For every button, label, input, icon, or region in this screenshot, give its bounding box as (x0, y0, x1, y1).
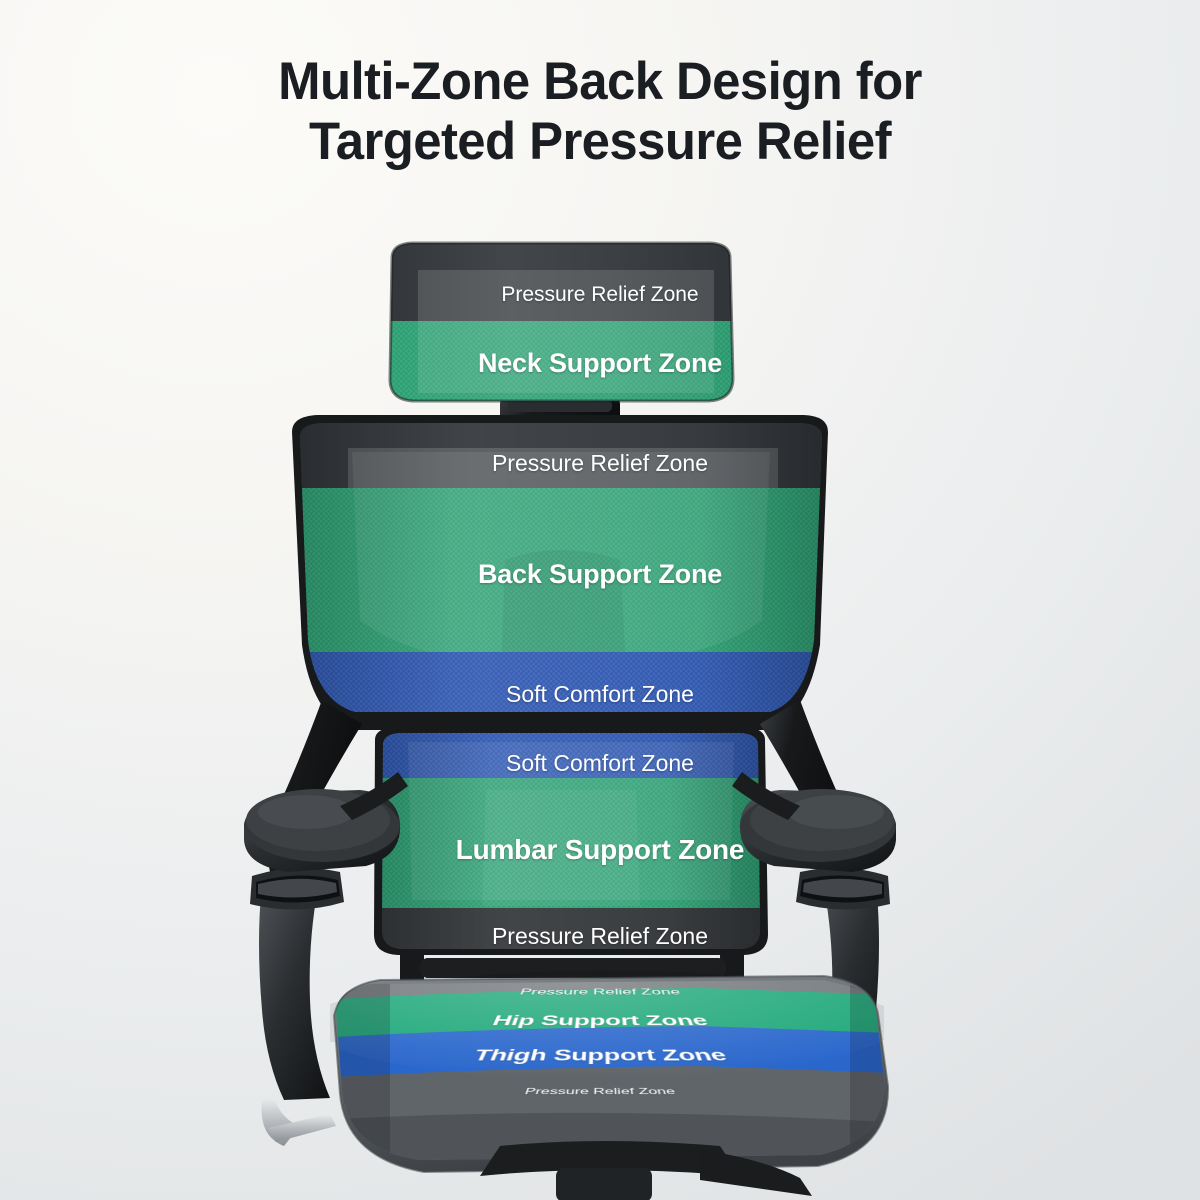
backrest (290, 420, 835, 722)
office-chair-illustration (0, 0, 1200, 1200)
headrest (380, 243, 750, 413)
lumbar-panel (370, 727, 770, 960)
product-infographic: Multi-Zone Back Design for Targeted Pres… (0, 0, 1200, 1200)
